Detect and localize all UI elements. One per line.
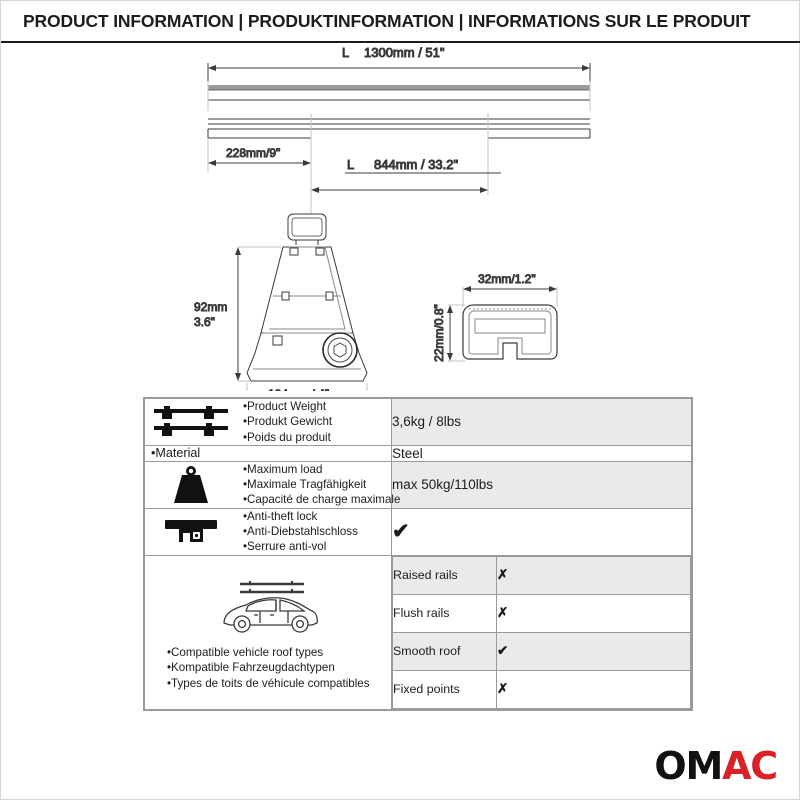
- roof-type-name: Fixed points: [393, 670, 497, 708]
- weight-icon: [145, 463, 237, 507]
- weight-label-en: •Product Weight: [243, 399, 332, 414]
- foot-width-label: 104mm / 4": [268, 387, 329, 391]
- span-length-label: 844mm / 33.2": [374, 157, 458, 172]
- max-load-label-de: •Maximale Tragfähigkeit: [243, 477, 400, 492]
- anti-theft-label-en: •Anti-theft lock: [243, 509, 358, 524]
- weight-value-cell: 3,6kg / 8lbs: [392, 399, 692, 446]
- crossbar-side-view: [208, 119, 590, 138]
- roof-type-mark: ✗: [497, 670, 691, 708]
- weight-label-fr: •Poids du produit: [243, 430, 332, 445]
- table-row: •Maximum load •Maximale Tragfähigkeit •C…: [145, 461, 692, 508]
- profile-height-dimension: [447, 305, 465, 361]
- check-icon: ✔: [497, 643, 508, 658]
- page-header: PRODUCT INFORMATION | PRODUKTINFORMATION…: [1, 1, 800, 43]
- crossbar-top-view: [208, 86, 590, 100]
- cross-icon: ✗: [497, 681, 508, 696]
- page-title: PRODUCT INFORMATION | PRODUKTINFORMATION…: [23, 11, 750, 32]
- compatibility-label-en: •Compatible vehicle roof types: [167, 645, 391, 661]
- foot-height-in-label: 3.6": [194, 315, 215, 329]
- cross-icon: ✗: [497, 605, 508, 620]
- weight-label-cell: •Product Weight •Produkt Gewicht •Poids …: [145, 399, 392, 446]
- roof-type-row: Smooth roof ✔: [393, 632, 691, 670]
- roof-type-mark: ✗: [497, 594, 691, 632]
- product-information-sheet: PRODUCT INFORMATION | PRODUKTINFORMATION…: [0, 0, 800, 800]
- roof-type-mark: ✔: [497, 632, 691, 670]
- compatibility-label-cell: •Compatible vehicle roof types •Kompatib…: [145, 555, 392, 709]
- compatibility-label-de: •Kompatible Fahrzeugdachtypen: [167, 660, 391, 676]
- max-load-value-cell: max 50kg/110lbs: [392, 461, 692, 508]
- logo-text-ac: AC: [722, 744, 777, 788]
- lock-icon: [145, 516, 237, 548]
- foot-offset-dimension: [208, 160, 311, 166]
- profile-width-label: 32mm/1.2": [478, 272, 536, 286]
- rail-profile-section: [463, 305, 557, 359]
- bar-length-prefix: L: [342, 45, 349, 60]
- foot-offset-label: 228mm/9": [226, 146, 280, 160]
- specification-table: •Product Weight •Produkt Gewicht •Poids …: [143, 397, 693, 711]
- profile-width-dimension: [463, 286, 557, 307]
- max-load-label-fr: •Capacité de charge maximale: [243, 492, 400, 507]
- roof-type-name: Raised rails: [393, 556, 497, 594]
- anti-theft-label-cell: •Anti-theft lock •Anti-Diebstahlschloss …: [145, 508, 392, 555]
- roof-types-table: Raised rails ✗ Flush rails ✗: [392, 556, 691, 709]
- foot-height-mm-label: 92mm: [194, 300, 227, 314]
- cross-icon: ✗: [497, 567, 508, 582]
- anti-theft-label-fr: •Serrure anti-vol: [243, 539, 358, 554]
- check-icon: ✔: [392, 520, 410, 543]
- profile-height-label: 22mm/0.8": [432, 304, 446, 362]
- roof-type-name: Flush rails: [393, 594, 497, 632]
- span-prefix: L: [347, 157, 354, 172]
- material-label: •Material: [145, 446, 391, 460]
- roof-type-row: Raised rails ✗: [393, 556, 691, 594]
- material-label-cell: •Material: [145, 445, 392, 461]
- anti-theft-label-lines: •Anti-theft lock •Anti-Diebstahlschloss …: [243, 509, 358, 555]
- roof-type-mark: ✗: [497, 556, 691, 594]
- table-row: •Product Weight •Produkt Gewicht •Poids …: [145, 399, 692, 446]
- crossbars-icon: [145, 402, 237, 442]
- roof-type-name: Smooth roof: [393, 632, 497, 670]
- logo-text-om: OM: [654, 744, 722, 788]
- technical-drawing: L 1300mm / 51": [1, 43, 800, 391]
- compatibility-label-lines: •Compatible vehicle roof types •Kompatib…: [145, 645, 391, 692]
- span-dimension: [311, 187, 488, 193]
- max-load-label-lines: •Maximum load •Maximale Tragfähigkeit •C…: [243, 462, 400, 508]
- overall-length-dimension: [208, 63, 590, 83]
- max-load-label-en: •Maximum load: [243, 462, 400, 477]
- weight-label-de: •Produkt Gewicht: [243, 414, 332, 429]
- roof-type-row: Fixed points ✗: [393, 670, 691, 708]
- weight-label-lines: •Product Weight •Produkt Gewicht •Poids …: [243, 399, 332, 445]
- material-value-cell: Steel: [392, 445, 692, 461]
- compatibility-label-fr: •Types de toits de véhicule compatibles: [167, 676, 391, 692]
- bar-length-label: 1300mm / 51": [364, 45, 445, 60]
- car-with-rack-icon: [145, 577, 391, 639]
- max-load-label-cell: •Maximum load •Maximale Tragfähigkeit •C…: [145, 461, 392, 508]
- table-row: •Compatible vehicle roof types •Kompatib…: [145, 555, 692, 709]
- anti-theft-label-de: •Anti-Diebstahlschloss: [243, 524, 358, 539]
- table-row: •Material Steel: [145, 445, 692, 461]
- omac-logo: OMAC: [654, 747, 777, 785]
- table-row: •Anti-theft lock •Anti-Diebstahlschloss …: [145, 508, 692, 555]
- roof-type-row: Flush rails ✗: [393, 594, 691, 632]
- anti-theft-value-cell: ✔: [392, 508, 692, 555]
- roof-types-cell: Raised rails ✗ Flush rails ✗: [392, 555, 692, 709]
- foot-detail-view: [247, 214, 367, 381]
